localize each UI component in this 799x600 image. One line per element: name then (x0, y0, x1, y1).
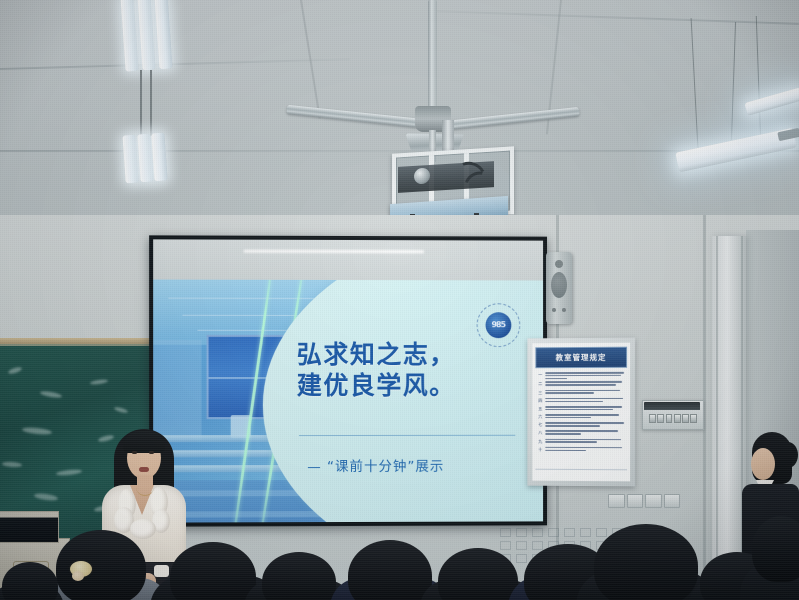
notice-rule-item: 六 (538, 414, 624, 420)
university-seal-logo: 985 (476, 303, 520, 347)
notice-rule-item: 二 (538, 381, 624, 387)
audience-head (752, 516, 799, 582)
slide-subtitle: — “课前十分钟”展示 (307, 455, 444, 475)
breaker-switch[interactable] (682, 414, 689, 423)
teacher-monitor (0, 511, 59, 543)
slide-text-area: 985 弘求知之志， 建优良学风。 — “课前十分钟”展示 (287, 280, 544, 523)
fan-blade (286, 105, 432, 129)
student-face (751, 448, 775, 480)
breaker-switch[interactable] (674, 414, 681, 423)
projector-stem (442, 120, 454, 154)
classroom-photo: 985 弘求知之志， 建优良学风。 — “课前十分钟”展示 教室管理规定 (0, 0, 799, 600)
right-column (712, 236, 746, 566)
audience-head (594, 524, 698, 600)
notice-board-inner: 教室管理规定 一 二 三 四 五 (532, 343, 630, 482)
notice-rule-item: 九 (538, 439, 624, 445)
power-outlet[interactable] (627, 494, 644, 508)
rule-number: 九 (538, 439, 543, 445)
ceiling-seam (430, 10, 799, 25)
slide-title-line2: 建优良学风。 (297, 370, 456, 401)
rule-number: 十 (538, 447, 543, 453)
slide-title-line1: 弘求知之志， (297, 340, 456, 369)
blouse-ruffle (130, 519, 156, 539)
circuit-breakers[interactable] (649, 414, 697, 423)
projection-screen: 985 弘求知之志， 建优良学风。 — “课前十分钟”展示 (149, 235, 547, 526)
notice-rule-item: 七 (538, 422, 624, 428)
wall-outlets[interactable] (608, 494, 680, 508)
light-rod (150, 70, 152, 136)
breaker-switch[interactable] (657, 414, 664, 423)
hair-clip (70, 561, 92, 577)
notice-rule-item: 五 (538, 406, 624, 412)
presenter-eye (149, 451, 154, 454)
notice-board: 教室管理规定 一 二 三 四 五 (527, 338, 635, 487)
seal-center: 985 (485, 312, 511, 338)
breaker-switch[interactable] (690, 414, 697, 423)
fluorescent-light-upper-left (120, 0, 175, 72)
column-seam (716, 236, 718, 566)
presenter-bangs (123, 431, 165, 453)
rule-number: 八 (538, 430, 543, 436)
notice-rule-item: 八 (538, 430, 624, 436)
audience-head (56, 530, 146, 600)
rule-number: 四 (538, 398, 543, 404)
speaker-screw (562, 308, 566, 312)
speaker-screw (552, 308, 556, 312)
breaker-switch[interactable] (649, 414, 656, 423)
fluorescent-light-lower-left (122, 133, 167, 184)
power-outlet[interactable] (664, 494, 681, 508)
light-rod (140, 70, 142, 136)
rule-number: 三 (538, 390, 543, 396)
rule-number: 一 (538, 372, 543, 378)
rule-number: 七 (538, 422, 543, 428)
presenter-mouth (139, 467, 149, 472)
notice-rule-item: 四 (538, 398, 624, 404)
notice-rule-item: 三 (538, 389, 624, 395)
wall-seam (703, 215, 706, 575)
electrical-panel[interactable] (642, 400, 704, 430)
blouse-cuff (154, 565, 169, 577)
notice-rule-item: 一 (538, 372, 624, 379)
presentation-slide: 985 弘求知之志， 建优良学风。 — “课前十分钟”展示 (153, 280, 543, 523)
notice-rule-item: 十 (538, 447, 624, 453)
rule-number: 六 (538, 414, 543, 420)
notice-board-rules: 一 二 三 四 五 (535, 368, 627, 467)
power-outlet[interactable] (645, 494, 662, 508)
panel-hood (644, 402, 700, 410)
screen-blank-area (153, 239, 543, 280)
presenter-eye (132, 451, 137, 454)
breaker-switch[interactable] (666, 414, 673, 423)
fan-pole (428, 0, 437, 110)
speaker-tweeter (555, 260, 563, 268)
light-reflection (244, 250, 424, 254)
fan-blade (436, 107, 580, 131)
speaker-cone (551, 272, 567, 298)
wall-speaker (546, 252, 572, 324)
power-outlet[interactable] (608, 494, 625, 508)
rule-number: 五 (538, 406, 543, 412)
screen-surface: 985 弘求知之志， 建优良学风。 — “课前十分钟”展示 (153, 239, 543, 522)
slide-title: 弘求知之志， 建优良学风。 (297, 340, 456, 401)
rule-number: 二 (538, 381, 543, 387)
slide-divider (299, 435, 515, 436)
notice-board-title: 教室管理规定 (535, 347, 627, 369)
notice-board-footer (535, 469, 627, 478)
